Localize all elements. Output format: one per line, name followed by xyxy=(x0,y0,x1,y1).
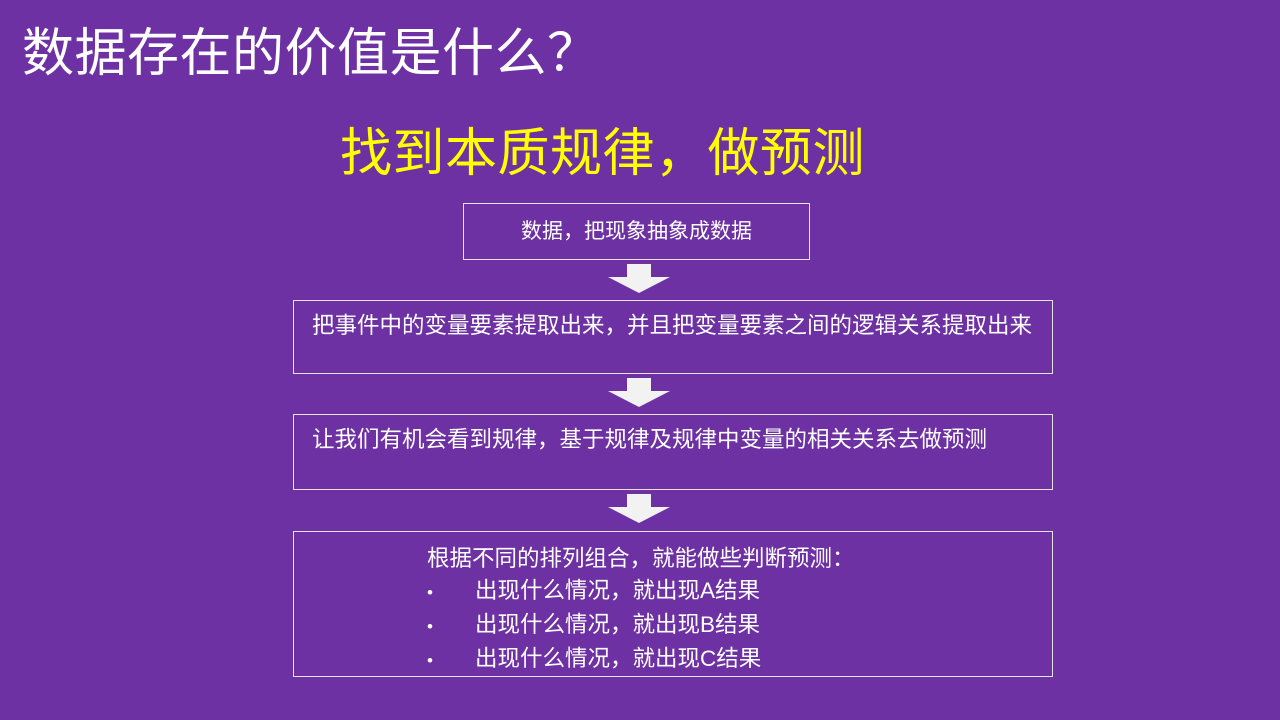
list-item: • 出现什么情况，就出现C结果 xyxy=(294,643,1052,677)
flow-step-1-text: 数据，把现象抽象成数据 xyxy=(521,218,752,246)
flow-step-3-text: 让我们有机会看到规律，基于规律及规律中变量的相关关系去做预测 xyxy=(312,424,1038,456)
page-subtitle: 找到本质规律，做预测 xyxy=(340,122,1240,186)
flow-step-4-bullet-1: 出现什么情况，就出现A结果 xyxy=(475,575,760,607)
list-item: • 出现什么情况，就出现B结果 xyxy=(294,609,1052,643)
list-item: • 出现什么情况，就出现A结果 xyxy=(294,575,1052,609)
arrow-down-icon xyxy=(608,378,670,407)
arrow-down-icon xyxy=(608,264,670,293)
flow-step-4-bullet-3: 出现什么情况，就出现C结果 xyxy=(475,643,761,675)
flow-step-3: 让我们有机会看到规律，基于规律及规律中变量的相关关系去做预测 xyxy=(293,414,1053,490)
bullet-icon: • xyxy=(427,577,475,609)
flow-step-2-text: 把事件中的变量要素提取出来，并且把变量要素之间的逻辑关系提取出来 xyxy=(312,310,1038,342)
flow-step-1: 数据，把现象抽象成数据 xyxy=(463,203,810,260)
slide-canvas: 数据存在的价值是什么？ 找到本质规律，做预测 数据，把现象抽象成数据 把事件中的… xyxy=(0,0,1280,720)
bullet-icon: • xyxy=(427,645,475,677)
arrow-down-icon xyxy=(608,494,670,523)
flow-step-2: 把事件中的变量要素提取出来，并且把变量要素之间的逻辑关系提取出来 xyxy=(293,300,1053,374)
page-title: 数据存在的价值是什么？ xyxy=(22,22,922,86)
bullet-icon: • xyxy=(427,611,475,643)
flow-step-4-heading: 根据不同的排列组合，就能做些判断预测： xyxy=(294,542,1052,575)
flow-step-4-bullet-2: 出现什么情况，就出现B结果 xyxy=(475,609,760,641)
flow-step-4: 根据不同的排列组合，就能做些判断预测： • 出现什么情况，就出现A结果 • 出现… xyxy=(293,531,1053,677)
